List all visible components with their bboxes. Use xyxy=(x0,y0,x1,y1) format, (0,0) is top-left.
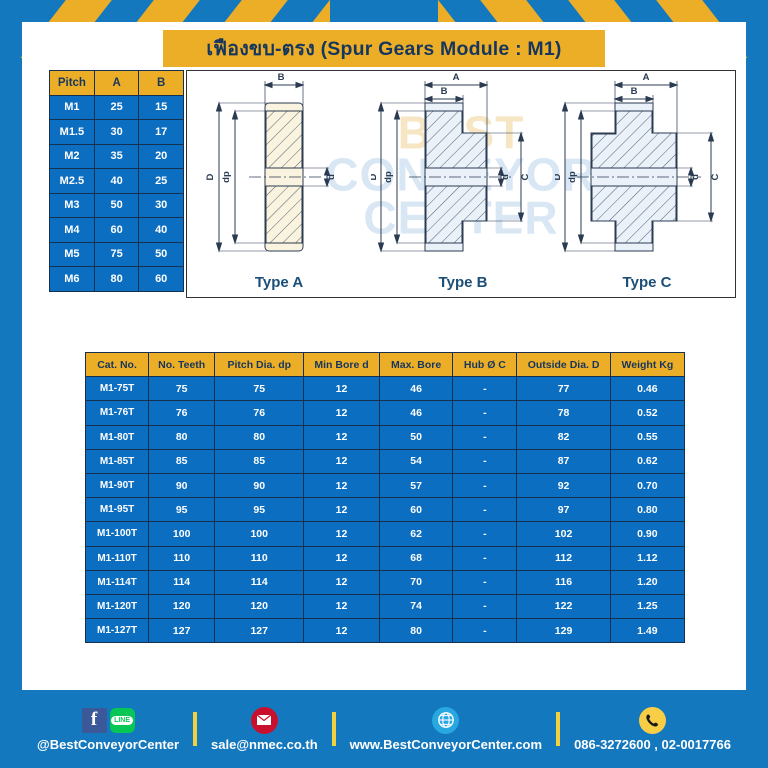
cell-no-teeth: 100 xyxy=(149,522,215,546)
cell-weight: 0.55 xyxy=(610,425,684,449)
cell-min-bore: 12 xyxy=(304,546,380,570)
footer-divider xyxy=(332,712,336,746)
dim-label-d-outside: D xyxy=(371,173,379,180)
table-row: M1-110T1101101268-1121.12 xyxy=(86,546,685,570)
cell-outside-dia: 116 xyxy=(517,570,610,594)
cell-outside-dia: 129 xyxy=(517,619,610,643)
pitch-cell: 40 xyxy=(94,169,139,194)
cell-hub-c: - xyxy=(453,594,517,618)
diagram-type-b: A B D dp d C Type B xyxy=(371,71,555,297)
pitch-cell: M2.5 xyxy=(50,169,95,194)
cell-outside-dia: 112 xyxy=(517,546,610,570)
cell-hub-c: - xyxy=(453,498,517,522)
page-title: เฟืองขบ-ตรง (Spur Gears Module : M1) xyxy=(163,30,605,67)
cell-max-bore: 46 xyxy=(379,401,453,425)
cell-weight: 0.62 xyxy=(610,449,684,473)
cell-cat-no: M1-110T xyxy=(86,546,149,570)
pitch-cell: M2 xyxy=(50,144,95,169)
cell-weight: 1.20 xyxy=(610,570,684,594)
pitch-cell: M4 xyxy=(50,218,95,243)
diagram-label-c: Type C xyxy=(555,274,736,291)
col-outside-dia: Outside Dia. D xyxy=(517,353,610,377)
cell-hub-c: - xyxy=(453,570,517,594)
table-row: M12515 xyxy=(50,95,184,120)
pitch-cell: M5 xyxy=(50,242,95,267)
col-min-bore: Min Bore d xyxy=(304,353,380,377)
cell-max-bore: 54 xyxy=(379,449,453,473)
pitch-table: Pitch A B M12515 M1.53017 M23520 M2.5402… xyxy=(49,70,184,292)
pitch-cell: 40 xyxy=(139,218,184,243)
footer-website[interactable]: www.BestConveyorCenter.com xyxy=(350,706,542,752)
cell-hub-c: - xyxy=(453,473,517,497)
cell-min-bore: 12 xyxy=(304,522,380,546)
dim-label-dp: dp xyxy=(383,171,394,183)
spec-table-body: M1-75T75751246-770.46 M1-76T76761246-780… xyxy=(86,377,685,643)
diagram-type-c: A B D dp d C Type C xyxy=(555,71,736,297)
cell-outside-dia: 102 xyxy=(517,522,610,546)
cell-min-bore: 12 xyxy=(304,498,380,522)
table-row: M23520 xyxy=(50,144,184,169)
cell-outside-dia: 77 xyxy=(517,377,610,401)
cell-no-teeth: 90 xyxy=(149,473,215,497)
spec-table-wrapper: Cat. No. No. Teeth Pitch Dia. dp Min Bor… xyxy=(85,352,685,643)
cell-pitch-dia: 85 xyxy=(215,449,304,473)
col-max-bore: Max. Bore xyxy=(379,353,453,377)
cell-cat-no: M1-127T xyxy=(86,619,149,643)
col-cat-no: Cat. No. xyxy=(86,353,149,377)
diagram-type-a: B D dp d Type A xyxy=(187,71,371,297)
cell-weight: 1.25 xyxy=(610,594,684,618)
cell-hub-c: - xyxy=(453,377,517,401)
phone-icon[interactable] xyxy=(639,707,666,734)
line-badge-text: LINE xyxy=(111,716,133,725)
cell-no-teeth: 76 xyxy=(149,401,215,425)
phone-number[interactable]: 086-3272600 , 02-0017766 xyxy=(574,737,731,752)
cell-pitch-dia: 90 xyxy=(215,473,304,497)
footer-facebook[interactable]: f LINE @BestConveyorCenter xyxy=(37,706,179,752)
cell-hub-c: - xyxy=(453,546,517,570)
cell-weight: 0.80 xyxy=(610,498,684,522)
pitch-cell: 20 xyxy=(139,144,184,169)
cell-weight: 1.49 xyxy=(610,619,684,643)
cell-hub-c: - xyxy=(453,449,517,473)
dim-label-d-bore: d xyxy=(690,174,701,180)
cell-pitch-dia: 127 xyxy=(215,619,304,643)
col-pitch-dia: Pitch Dia. dp xyxy=(215,353,304,377)
cell-hub-c: - xyxy=(453,425,517,449)
diagram-panel: BEST CONVEYOR CENTER xyxy=(186,70,736,298)
table-row: M57550 xyxy=(50,242,184,267)
cell-outside-dia: 97 xyxy=(517,498,610,522)
cell-no-teeth: 127 xyxy=(149,619,215,643)
cell-min-bore: 12 xyxy=(304,570,380,594)
page-title-text: เฟืองขบ-ตรง (Spur Gears Module : M1) xyxy=(206,33,561,64)
pitch-cell: 17 xyxy=(139,120,184,145)
cell-max-bore: 50 xyxy=(379,425,453,449)
cell-outside-dia: 92 xyxy=(517,473,610,497)
cell-max-bore: 80 xyxy=(379,619,453,643)
table-row: M1-80T80801250-820.55 xyxy=(86,425,685,449)
table-row: M2.54025 xyxy=(50,169,184,194)
cell-weight: 1.12 xyxy=(610,546,684,570)
email-address[interactable]: sale@nmec.co.th xyxy=(211,737,318,752)
table-row: M35030 xyxy=(50,193,184,218)
diagram-label-a: Type A xyxy=(187,274,371,291)
cell-max-bore: 74 xyxy=(379,594,453,618)
dim-label-d-outside: D xyxy=(555,173,563,180)
cell-pitch-dia: 100 xyxy=(215,522,304,546)
table-row: M1.53017 xyxy=(50,120,184,145)
cell-no-teeth: 95 xyxy=(149,498,215,522)
dim-label-b: B xyxy=(278,72,285,83)
dim-label-b: B xyxy=(441,86,448,97)
diagram-label-b: Type B xyxy=(371,274,555,291)
table-row: M1-114T1141141270-1161.20 xyxy=(86,570,685,594)
table-row: M1-76T76761246-780.52 xyxy=(86,401,685,425)
cell-min-bore: 12 xyxy=(304,473,380,497)
cell-pitch-dia: 110 xyxy=(215,546,304,570)
cell-weight: 0.46 xyxy=(610,377,684,401)
footer-divider xyxy=(556,712,560,746)
cell-max-bore: 62 xyxy=(379,522,453,546)
cell-max-bore: 57 xyxy=(379,473,453,497)
pitch-cell: 30 xyxy=(139,193,184,218)
spec-table-header-row: Cat. No. No. Teeth Pitch Dia. dp Min Bor… xyxy=(86,353,685,377)
table-row: M1-100T1001001262-1020.90 xyxy=(86,522,685,546)
cell-cat-no: M1-80T xyxy=(86,425,149,449)
table-row: M1-90T90901257-920.70 xyxy=(86,473,685,497)
pitch-cell: M1.5 xyxy=(50,120,95,145)
pitch-cell: M1 xyxy=(50,95,95,120)
dim-label-d-bore: d xyxy=(500,174,511,180)
pitch-cell: 60 xyxy=(139,267,184,292)
top-section: Pitch A B M12515 M1.53017 M23520 M2.5402… xyxy=(22,70,746,302)
cell-min-bore: 12 xyxy=(304,401,380,425)
cell-no-teeth: 114 xyxy=(149,570,215,594)
col-no-teeth: No. Teeth xyxy=(149,353,215,377)
cell-cat-no: M1-85T xyxy=(86,449,149,473)
cell-outside-dia: 78 xyxy=(517,401,610,425)
cell-min-bore: 12 xyxy=(304,377,380,401)
cell-outside-dia: 122 xyxy=(517,594,610,618)
cell-cat-no: M1-114T xyxy=(86,570,149,594)
pitch-cell: M6 xyxy=(50,267,95,292)
dim-label-d-bore: d xyxy=(326,174,337,180)
cell-pitch-dia: 120 xyxy=(215,594,304,618)
cell-no-teeth: 75 xyxy=(149,377,215,401)
email-icon[interactable] xyxy=(251,707,278,734)
col-weight: Weight Kg xyxy=(610,353,684,377)
table-row: M1-75T75751246-770.46 xyxy=(86,377,685,401)
cell-min-bore: 12 xyxy=(304,619,380,643)
pitch-cell: 80 xyxy=(94,267,139,292)
dim-label-dp: dp xyxy=(221,171,232,183)
cell-weight: 0.90 xyxy=(610,522,684,546)
table-row: M1-127T1271271280-1291.49 xyxy=(86,619,685,643)
facebook-handle[interactable]: @BestConveyorCenter xyxy=(37,737,179,752)
spec-table: Cat. No. No. Teeth Pitch Dia. dp Min Bor… xyxy=(85,352,685,643)
globe-icon[interactable] xyxy=(432,707,459,734)
cell-pitch-dia: 76 xyxy=(215,401,304,425)
pitch-header-b: B xyxy=(139,71,184,96)
cell-cat-no: M1-76T xyxy=(86,401,149,425)
table-row: M46040 xyxy=(50,218,184,243)
dim-label-c: C xyxy=(520,173,531,180)
pitch-cell: 15 xyxy=(139,95,184,120)
cell-cat-no: M1-75T xyxy=(86,377,149,401)
cell-max-bore: 70 xyxy=(379,570,453,594)
table-row: M1-95T95951260-970.80 xyxy=(86,498,685,522)
cell-pitch-dia: 80 xyxy=(215,425,304,449)
pitch-cell: 25 xyxy=(94,95,139,120)
cell-no-teeth: 80 xyxy=(149,425,215,449)
col-hub-c: Hub Ø C xyxy=(453,353,517,377)
footer-email[interactable]: sale@nmec.co.th xyxy=(211,706,318,752)
dim-label-a: A xyxy=(453,72,460,83)
website-url[interactable]: www.BestConveyorCenter.com xyxy=(350,737,542,752)
pitch-cell: 75 xyxy=(94,242,139,267)
footer-contact-bar: f LINE @BestConveyorCenter sale@nmec.co.… xyxy=(0,690,768,768)
cell-min-bore: 12 xyxy=(304,425,380,449)
pitch-cell: 35 xyxy=(94,144,139,169)
pitch-cell: 30 xyxy=(94,120,139,145)
cell-pitch-dia: 95 xyxy=(215,498,304,522)
cell-max-bore: 68 xyxy=(379,546,453,570)
cell-no-teeth: 85 xyxy=(149,449,215,473)
pitch-cell: 25 xyxy=(139,169,184,194)
cell-hub-c: - xyxy=(453,522,517,546)
facebook-icon[interactable]: f xyxy=(82,708,107,733)
footer-phone[interactable]: 086-3272600 , 02-0017766 xyxy=(574,706,731,752)
table-row: M1-85T85851254-870.62 xyxy=(86,449,685,473)
footer-divider xyxy=(193,712,197,746)
dim-label-d-outside: D xyxy=(205,173,216,180)
cell-cat-no: M1-100T xyxy=(86,522,149,546)
cell-cat-no: M1-90T xyxy=(86,473,149,497)
cell-cat-no: M1-120T xyxy=(86,594,149,618)
cell-hub-c: - xyxy=(453,619,517,643)
pitch-cell: 60 xyxy=(94,218,139,243)
cell-max-bore: 46 xyxy=(379,377,453,401)
cell-cat-no: M1-95T xyxy=(86,498,149,522)
cell-outside-dia: 82 xyxy=(517,425,610,449)
dim-label-a: A xyxy=(643,72,650,83)
cell-outside-dia: 87 xyxy=(517,449,610,473)
cell-hub-c: - xyxy=(453,401,517,425)
content-panel: เฟืองขบ-ตรง (Spur Gears Module : M1) Pit… xyxy=(22,22,746,690)
dim-label-c: C xyxy=(710,173,721,180)
pitch-table-header-row: Pitch A B xyxy=(50,71,184,96)
pitch-cell: 50 xyxy=(94,193,139,218)
pitch-cell: 50 xyxy=(139,242,184,267)
cell-pitch-dia: 114 xyxy=(215,570,304,594)
dim-label-b: B xyxy=(631,86,638,97)
table-row: M68060 xyxy=(50,267,184,292)
cell-pitch-dia: 75 xyxy=(215,377,304,401)
cell-no-teeth: 120 xyxy=(149,594,215,618)
pitch-header-pitch: Pitch xyxy=(50,71,95,96)
cell-no-teeth: 110 xyxy=(149,546,215,570)
cell-weight: 0.70 xyxy=(610,473,684,497)
cell-max-bore: 60 xyxy=(379,498,453,522)
line-icon[interactable]: LINE xyxy=(110,708,135,733)
cell-min-bore: 12 xyxy=(304,594,380,618)
dim-label-dp: dp xyxy=(567,171,578,183)
table-row: M1-120T1201201274-1221.25 xyxy=(86,594,685,618)
cell-min-bore: 12 xyxy=(304,449,380,473)
pitch-header-a: A xyxy=(94,71,139,96)
pitch-cell: M3 xyxy=(50,193,95,218)
cell-weight: 0.52 xyxy=(610,401,684,425)
